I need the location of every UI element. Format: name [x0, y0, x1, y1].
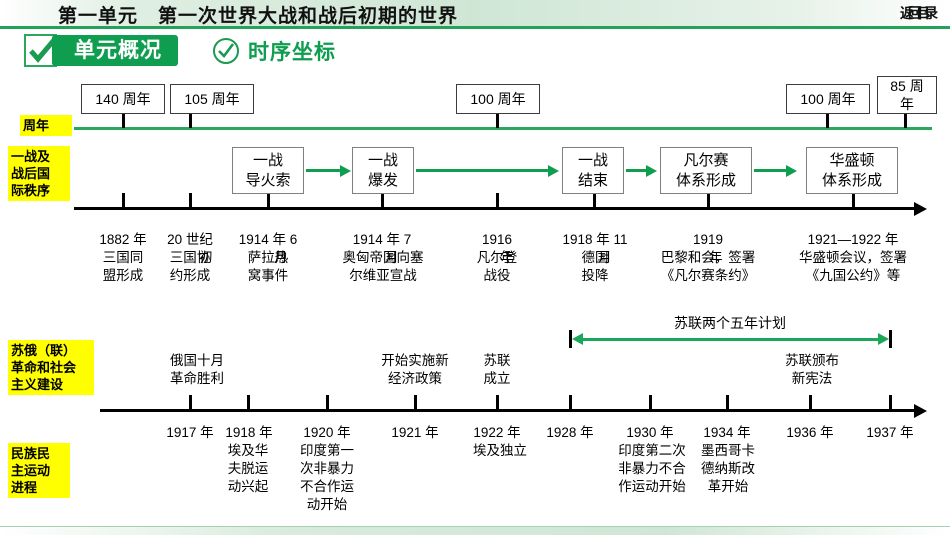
soviet-axis [100, 409, 916, 412]
flow-connector [416, 169, 548, 172]
flow-arrow-icon [548, 165, 559, 177]
tab-timeline[interactable]: 时序坐标 [213, 36, 413, 66]
soviet-tick [414, 395, 417, 409]
event-year: 1919 [668, 231, 748, 249]
soviet-event-text: 苏联 成立 [467, 352, 527, 388]
soviet-tick [726, 395, 729, 409]
soviet-event-text: 开始实施新 经济政策 [360, 352, 470, 388]
soviet-event-text: 俄国十月 革命胜利 [157, 352, 237, 388]
movement-event-text: 墨西哥卡 德纳斯改 革开始 [690, 442, 766, 496]
flow-arrow-icon [786, 165, 797, 177]
event-text: 三国协 约形成 [150, 249, 230, 285]
soviet-tick [247, 395, 250, 409]
axis-year-label: 1918 年 [211, 424, 287, 442]
axis-year-label: 1920 年 [289, 424, 365, 442]
flow-arrow-icon [646, 165, 657, 177]
wwi-axis [74, 207, 916, 210]
event-year: 1921—1922 年 [787, 231, 919, 249]
movement-event-text: 埃及独立 [461, 442, 539, 460]
row-label-soviet: 苏俄（联） 革命和社会 主义建设 [8, 340, 94, 395]
axis-year-label: 1936 年 [772, 424, 848, 442]
axis-year-label: 1934 年 [689, 424, 765, 442]
axis-year-label: 1930 年 [612, 424, 688, 442]
header-bar: 第一单元 第一次世界大战和战后初期的世界 返回目录 [0, 0, 950, 26]
soviet-tick [569, 395, 572, 409]
flow-connector [306, 169, 340, 172]
axis-year-label: 1928 年 [532, 424, 608, 442]
soviet-tick [649, 395, 652, 409]
axis-year-label: 1922 年 [459, 424, 535, 442]
anniversary-tick [122, 114, 125, 128]
tab-unit-overview[interactable]: 单元概况 [52, 35, 178, 66]
event-text: 凡尔登 战役 [457, 249, 537, 285]
tab-timeline-label: 时序坐标 [248, 36, 336, 66]
event-text: 巴黎和会，签署 《凡尔赛条约》 [645, 249, 771, 285]
soviet-event-text: 苏联颁布 新宪法 [762, 352, 862, 388]
wwi-tick [496, 193, 499, 207]
flow-connector [626, 169, 646, 172]
span-bar [582, 338, 882, 341]
event-overlay-char: 月 [274, 249, 288, 267]
wwi-tick [707, 193, 710, 207]
axis-year-label: 1937 年 [852, 424, 928, 442]
flow-arrow-icon [340, 165, 351, 177]
row-label-national-movement: 民族民 主运动 进程 [8, 443, 70, 498]
return-to-contents-link[interactable]: 返回目录 [900, 3, 932, 23]
soviet-tick [326, 395, 329, 409]
anniversary-tick [826, 114, 829, 128]
anniversary-marker: 140 周年 [81, 84, 165, 114]
soviet-tick [189, 395, 192, 409]
span-arrow-right-icon [878, 333, 889, 345]
event-year: 1918 年 11 [545, 231, 645, 249]
soviet-axis-arrow [914, 404, 927, 418]
wwi-stage-box: 一战 结束 [562, 147, 624, 194]
event-overlay-char: 初 [199, 249, 213, 267]
wwi-tick [122, 193, 125, 207]
event-overlay-char: 月 [598, 249, 612, 267]
row-label-anniversary: 周年 [20, 115, 72, 136]
page-title: 第一单元 第一次世界大战和战后初期的世界 [58, 1, 458, 28]
soviet-tick [809, 395, 812, 409]
event-text: 华盛顿会议，签署 《九国公约》等 [783, 249, 923, 285]
wwi-tick [852, 193, 855, 207]
span-cap-right [889, 330, 892, 348]
anniversary-marker: 105 周年 [170, 84, 254, 114]
header-divider [0, 26, 950, 29]
anniversary-marker: 85 周 年 [877, 76, 937, 114]
event-overlay-char: 年 [500, 249, 514, 267]
event-text: 奥匈帝国向塞 尔维亚宣战 [325, 249, 441, 285]
event-year: 1914 年 6 [221, 231, 315, 249]
event-year: 20 世纪 [150, 231, 230, 249]
wwi-tick [381, 193, 384, 207]
tab-row: 单元概况 时序坐标 [0, 32, 950, 68]
movement-event-text: 埃及华 夫脱运 动兴起 [213, 442, 283, 496]
row-label-wwi-order: 一战及 战后国 际秩序 [8, 146, 70, 201]
flow-connector [754, 169, 786, 172]
footer-bar [0, 526, 950, 535]
anniversary-marker: 100 周年 [786, 84, 870, 114]
wwi-stage-box: 华盛顿 体系形成 [806, 147, 898, 194]
anniversary-tick [904, 114, 907, 128]
circle-check-icon [213, 38, 239, 64]
movement-event-text: 印度第一 次非暴力 不合作运 动开始 [288, 442, 366, 514]
event-overlay-char: 月 [385, 249, 399, 267]
wwi-tick [267, 193, 270, 207]
movement-event-text: 印度第二次 非暴力不合 作运动开始 [606, 442, 698, 496]
event-year: 1914 年 7 [335, 231, 429, 249]
wwi-tick [189, 193, 192, 207]
axis-year-label: 1921 年 [377, 424, 453, 442]
anniversary-axis [74, 127, 932, 130]
wwi-stage-box: 凡尔赛 体系形成 [660, 147, 752, 194]
soviet-tick [889, 395, 892, 409]
slide-root: 第一单元 第一次世界大战和战后初期的世界 返回目录 单元概况 时序坐标 周年 1… [0, 0, 950, 535]
wwi-stage-box: 一战 爆发 [352, 147, 414, 194]
anniversary-marker: 100 周年 [456, 84, 540, 114]
anniversary-tick [496, 114, 499, 128]
event-year: 1916 [457, 231, 537, 249]
five-year-plan-span-label: 苏联两个五年计划 [570, 313, 890, 333]
event-overlay-char: 年 [709, 249, 723, 267]
wwi-axis-arrow [914, 202, 927, 216]
anniversary-tick [189, 114, 192, 128]
event-text: 德国 投降 [555, 249, 635, 285]
event-text: 萨拉热 窝事件 [228, 249, 308, 285]
wwi-tick [593, 193, 596, 207]
wwi-stage-box: 一战 导火索 [232, 147, 304, 194]
soviet-tick [496, 395, 499, 409]
